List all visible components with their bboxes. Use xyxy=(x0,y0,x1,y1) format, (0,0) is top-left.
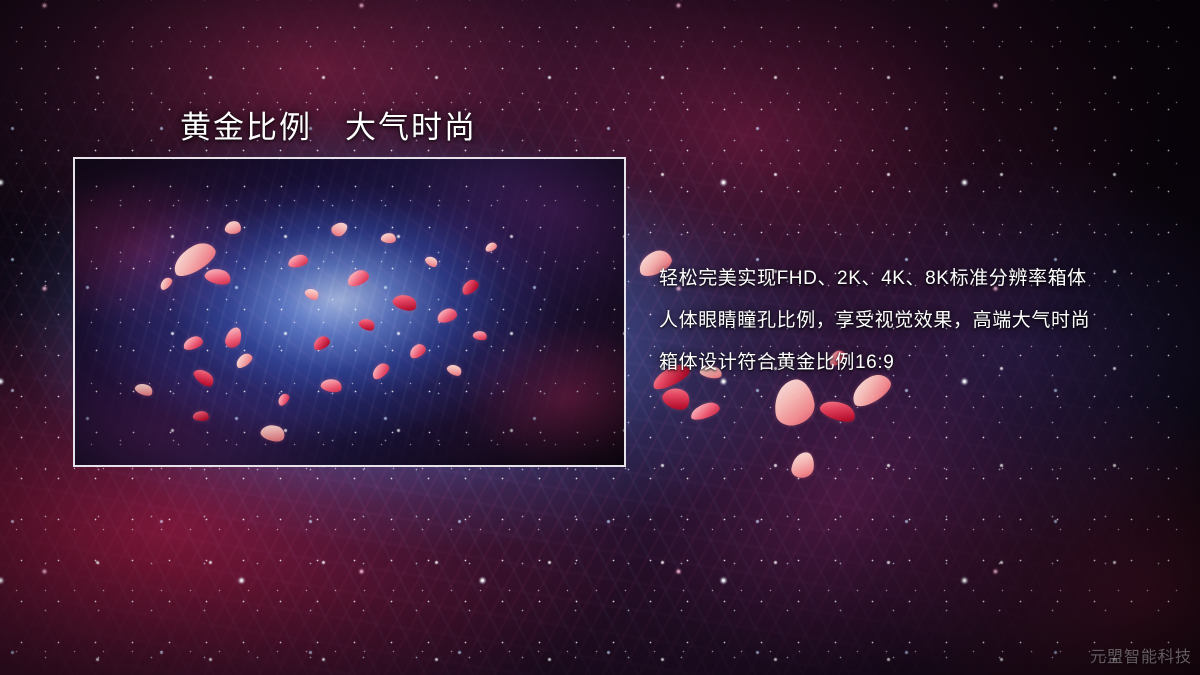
description-line-2: 人体眼睛瞳孔比例，享受视觉效果，高端大气时尚 xyxy=(659,300,1159,342)
description-line-3: 箱体设计符合黄金比例16:9 xyxy=(659,342,1159,384)
petal xyxy=(770,377,817,428)
company-watermark: 元盟智能科技 xyxy=(1090,643,1192,667)
petal xyxy=(790,451,815,480)
presentation-slide: 黄金比例 大气时尚 轻松完美实现FHD、2K、4K、8K标准分辨率箱体 人体眼睛… xyxy=(0,0,1200,675)
description-line-1: 轻松完美实现FHD、2K、4K、8K标准分辨率箱体 xyxy=(659,258,1159,300)
feature-description-block: 轻松完美实现FHD、2K、4K、8K标准分辨率箱体 人体眼睛瞳孔比例，享受视觉效… xyxy=(659,258,1159,384)
page-title: 黄金比例 大气时尚 xyxy=(180,102,477,147)
petal xyxy=(689,400,722,422)
petal xyxy=(818,396,858,426)
